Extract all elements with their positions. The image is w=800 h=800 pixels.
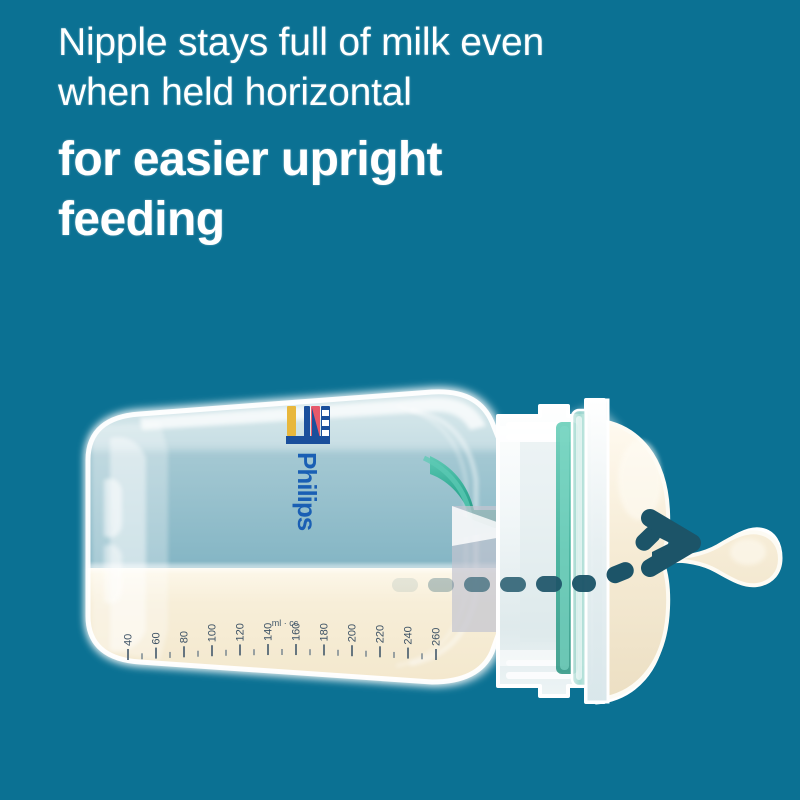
product-illustration: Philips	[0, 330, 800, 750]
scale-number: 120	[235, 623, 247, 641]
scale-number: 180	[319, 623, 331, 641]
scale-number: 260	[431, 628, 443, 646]
scale-number: 80	[179, 631, 191, 643]
headline-line-2: when held horizontal	[58, 68, 758, 118]
bottle-collar	[498, 400, 608, 702]
headline-block: Nipple stays full of milk even when held…	[58, 18, 758, 250]
scale-number: 240	[403, 626, 415, 644]
scale-number: 60	[151, 632, 163, 644]
headline-line-3: for easier upright	[58, 130, 758, 190]
bottle-teat	[594, 420, 780, 702]
headline-line-1: Nipple stays full of milk even	[58, 18, 758, 68]
scale-number: 220	[375, 625, 387, 643]
scale-number: 100	[207, 624, 219, 642]
scale-number: 200	[347, 624, 359, 642]
scale-number: 160	[291, 623, 303, 641]
philips-wordmark: Philips	[292, 452, 322, 531]
scale-number: 40	[123, 634, 135, 646]
scale-number: 140	[263, 623, 275, 641]
headline-line-4: feeding	[58, 190, 758, 250]
